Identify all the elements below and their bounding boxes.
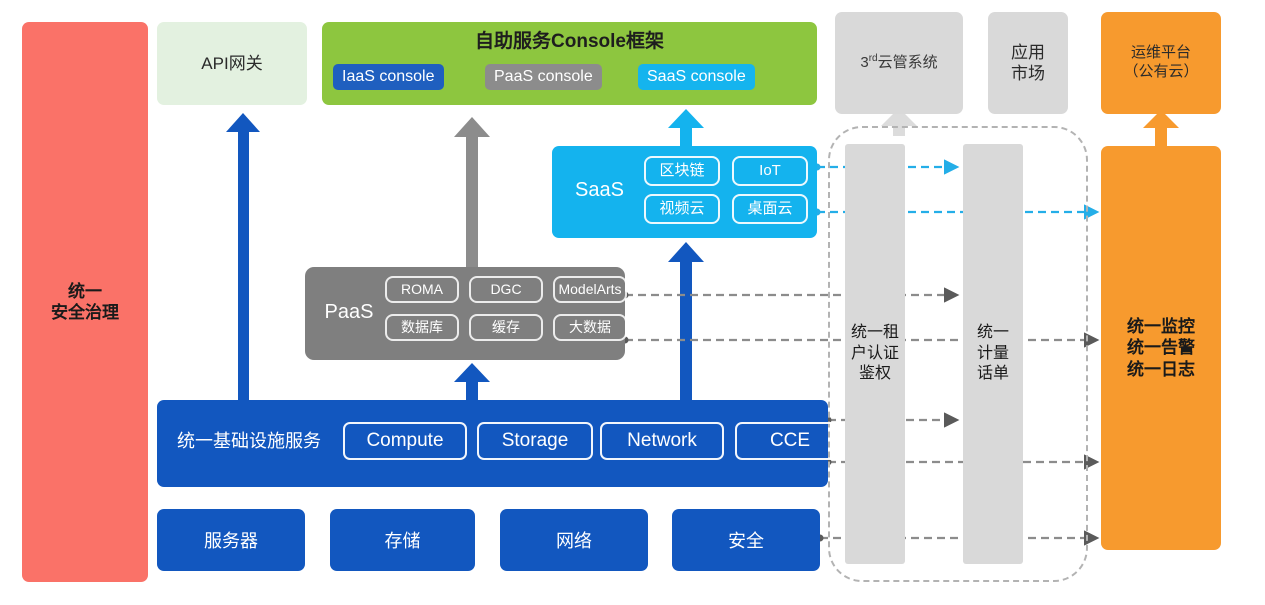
paas-layer-box[interactable]: PaaS ROMA DGC ModelArts 数据库 缓存 大数据 (305, 267, 625, 360)
architecture-diagram: 统一 安全治理 API网关 自助服务Console框架 IaaS console… (0, 0, 1265, 605)
api-gateway-label: API网关 (201, 53, 262, 74)
arrow-iaas-to-paas (454, 363, 490, 400)
saas-console-chip[interactable]: SaaS console (638, 64, 755, 90)
paas-item-bigdata-label: 大数据 (569, 319, 611, 337)
saas-item-video-cloud-label: 视频云 (659, 200, 704, 219)
paas-layer-label: PaaS (313, 300, 385, 325)
saas-item-iot-label: IoT (759, 162, 781, 181)
paas-item-roma[interactable]: ROMA (385, 276, 459, 303)
saas-item-video-cloud[interactable]: 视频云 (644, 194, 720, 224)
self-service-console-frame[interactable]: 自助服务Console框架 IaaS console PaaS console … (322, 22, 817, 105)
unified-tenant-auth-label: 统一租 户认证 鉴权 (851, 323, 899, 385)
unified-security-governance-label: 统一 安全治理 (51, 281, 119, 324)
third-party-cloud-management-box[interactable]: 3rd云管系统 (835, 12, 963, 114)
hardware-item-network[interactable]: 网络 (500, 509, 648, 571)
iaas-console-label: IaaS console (342, 67, 435, 87)
saas-console-label: SaaS console (647, 67, 746, 87)
hardware-item-security-label: 安全 (728, 527, 764, 553)
saas-item-desktop-cloud-label: 桌面云 (747, 200, 792, 219)
unified-tenant-auth-column[interactable]: 统一租 户认证 鉴权 (845, 144, 905, 564)
iaas-item-storage-label: Storage (502, 429, 569, 453)
arrow-iaas-to-saas (668, 242, 704, 400)
unified-metering-billing-column[interactable]: 统一 计量 话单 (963, 144, 1023, 564)
paas-item-cache-label: 缓存 (492, 319, 520, 337)
saas-item-desktop-cloud[interactable]: 桌面云 (732, 194, 808, 224)
paas-item-dgc-label: DGC (490, 281, 521, 299)
paas-item-bigdata[interactable]: 大数据 (553, 314, 627, 341)
iaas-item-compute-label: Compute (366, 429, 443, 453)
paas-item-modelarts-label: ModelArts (558, 281, 621, 299)
arrow-ops-main-to-top (1143, 110, 1179, 146)
hardware-item-network-label: 网络 (556, 527, 592, 553)
saas-item-iot[interactable]: IoT (732, 156, 808, 186)
iaas-console-chip[interactable]: IaaS console (333, 64, 444, 90)
hardware-item-storage[interactable]: 存储 (330, 509, 475, 571)
paas-item-modelarts[interactable]: ModelArts (553, 276, 627, 303)
paas-console-chip[interactable]: PaaS console (485, 64, 602, 90)
unified-security-governance-panel[interactable]: 统一 安全治理 (22, 22, 148, 582)
hardware-item-server[interactable]: 服务器 (157, 509, 305, 571)
paas-item-database[interactable]: 数据库 (385, 314, 459, 341)
iaas-item-network[interactable]: Network (600, 422, 724, 460)
app-market-label: 应用 市场 (1011, 42, 1045, 85)
ops-platform-label: 运维平台 （公有云） (1123, 44, 1198, 82)
third-cloud-superscript: rd (869, 53, 878, 64)
arrow-paas-to-console (454, 117, 490, 267)
unified-monitoring-label: 统一监控 统一告警 统一日志 (1127, 316, 1195, 380)
app-market-box[interactable]: 应用 市场 (988, 12, 1068, 114)
iaas-item-storage[interactable]: Storage (477, 422, 593, 460)
paas-console-label: PaaS console (494, 67, 593, 87)
unified-infrastructure-service-bar[interactable]: 统一基础设施服务 Compute Storage Network CCE (157, 400, 828, 487)
paas-item-cache[interactable]: 缓存 (469, 314, 543, 341)
api-gateway-box[interactable]: API网关 (157, 22, 307, 105)
saas-layer-label: SaaS (562, 178, 637, 203)
iaas-item-cce-label: CCE (770, 429, 810, 453)
hardware-item-storage-label: 存储 (385, 527, 421, 553)
hardware-item-server-label: 服务器 (204, 527, 258, 553)
paas-item-roma-label: ROMA (401, 281, 443, 299)
arrow-iaas-to-api-gateway (226, 113, 260, 400)
ops-platform-public-cloud-box[interactable]: 运维平台 （公有云） (1101, 12, 1221, 114)
arrow-saas-to-console (668, 109, 704, 146)
saas-item-blockchain[interactable]: 区块链 (644, 156, 720, 186)
unified-metering-billing-label: 统一 计量 话单 (977, 323, 1009, 385)
paas-item-dgc[interactable]: DGC (469, 276, 543, 303)
hardware-item-security[interactable]: 安全 (672, 509, 820, 571)
unified-infrastructure-label: 统一基础设施服务 (177, 430, 321, 453)
saas-item-blockchain-label: 区块链 (659, 162, 704, 181)
iaas-item-network-label: Network (627, 429, 697, 453)
unified-monitoring-panel[interactable]: 统一监控 统一告警 统一日志 (1101, 146, 1221, 550)
iaas-item-cce[interactable]: CCE (735, 422, 845, 460)
iaas-item-compute[interactable]: Compute (343, 422, 467, 460)
paas-item-database-label: 数据库 (401, 319, 443, 337)
saas-layer-box[interactable]: SaaS 区块链 IoT 视频云 桌面云 (552, 146, 817, 238)
console-frame-title: 自助服务Console框架 (322, 30, 817, 54)
third-cloud-label: 3rd云管系统 (860, 53, 937, 73)
